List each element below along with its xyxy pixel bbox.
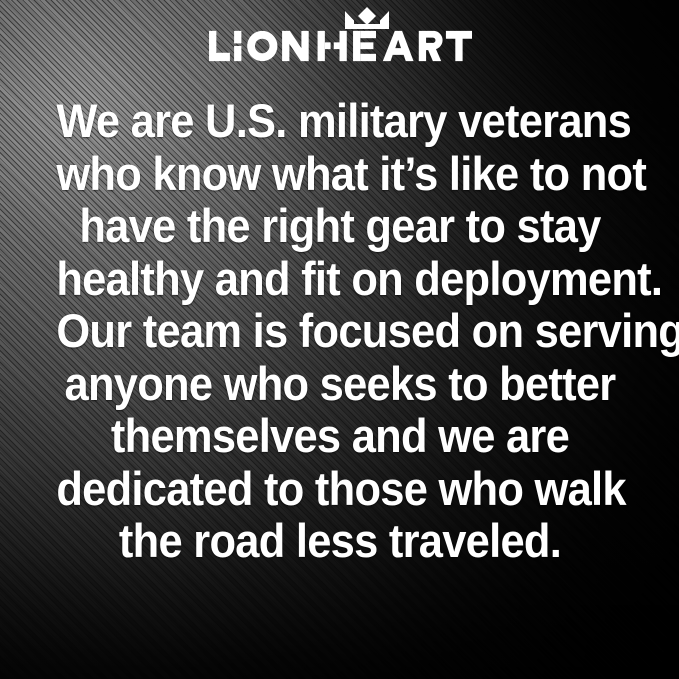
brand-logo <box>208 8 472 66</box>
statement-line: have the right gear to stay <box>56 201 623 254</box>
brand-statement-poster: We are U.S. military veterans who know w… <box>0 0 679 679</box>
statement-line: the road less traveled. <box>56 516 623 569</box>
statement-line: anyone who seeks to better <box>56 359 623 412</box>
statement-line: Our team is focused on serving <box>56 306 623 359</box>
statement-line: healthy and fit on deployment. <box>56 254 623 307</box>
statement-line: themselves and we are <box>56 411 623 464</box>
crown-icon <box>345 7 389 29</box>
statement-line: We are U.S. military veterans <box>56 96 623 149</box>
brand-statement-text: We are U.S. military veterans who know w… <box>56 96 623 569</box>
brand-wordmark <box>208 26 472 66</box>
statement-line: dedicated to those who walk <box>56 464 623 517</box>
statement-line: who know what it’s like to not <box>56 149 623 202</box>
poster-content: We are U.S. military veterans who know w… <box>0 0 679 679</box>
